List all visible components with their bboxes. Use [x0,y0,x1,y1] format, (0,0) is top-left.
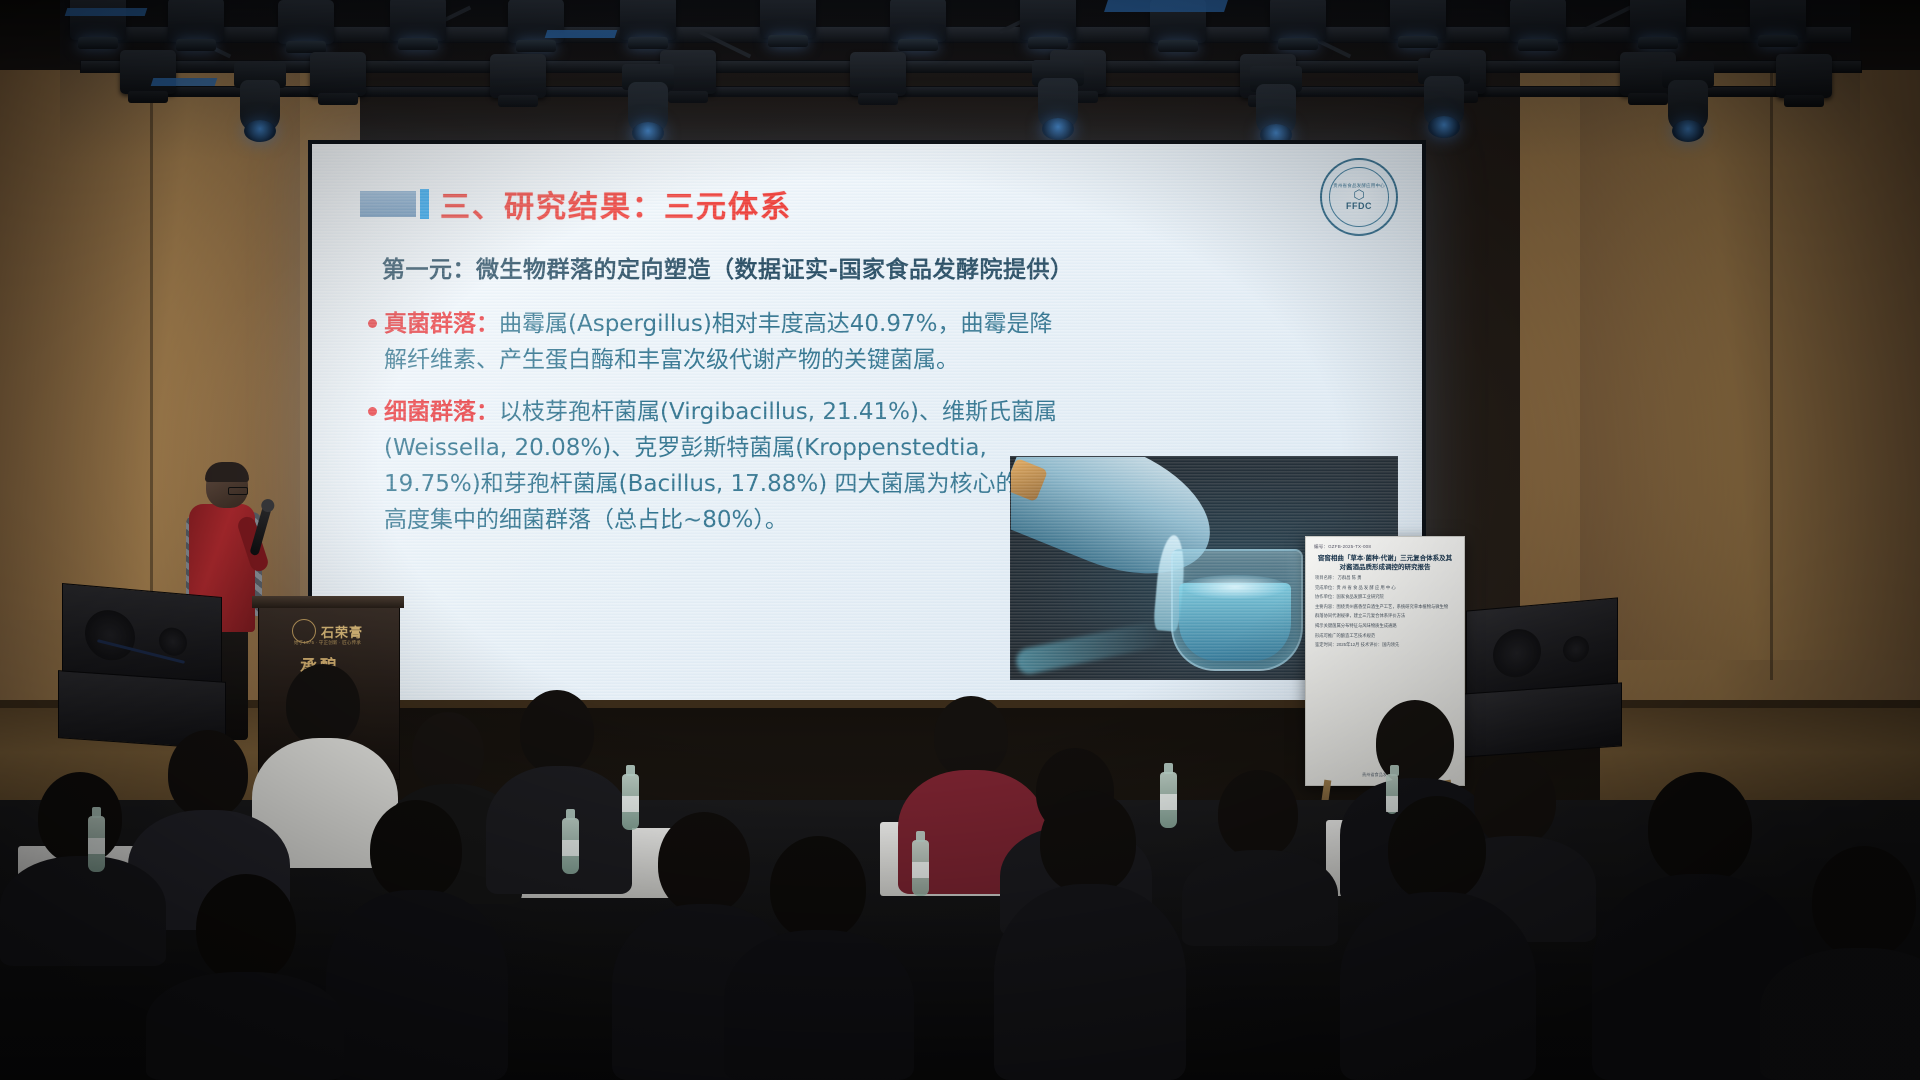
ffdc-logo: 贵州省食品发酵应用中心 ⬡ FFDC [1320,158,1398,236]
audience-head [770,836,866,940]
stage-light [890,0,946,42]
bullet-dot-icon [368,407,377,416]
water-bottle [1386,774,1398,814]
conference-hall-scene: 三、研究结果：三元体系 第一元：微生物群落的定向塑造（数据证实-国家食品发酵院提… [0,0,1920,1080]
audience-person [1760,948,1920,1080]
poster-row: 项目名称： 万群昌 陈 勇 [1315,575,1455,582]
stage-light [760,0,816,38]
liquid-splash [1183,575,1287,599]
moving-head-light [620,64,676,150]
presentation-slide: 三、研究结果：三元体系 第一元：微生物群落的定向塑造（数据证实-国家食品发酵院提… [312,144,1422,704]
moving-head-light [1416,58,1472,144]
audience-head [658,812,750,914]
audience-person [994,884,1186,1080]
moving-head-light [1660,62,1716,148]
lighting-truss [60,0,1860,160]
podium-brand-name: 石荣膏 [321,622,363,641]
stage-light [278,0,334,44]
poster-header: 编号：GZFB-2025-TX-008 [1314,544,1456,550]
stage-light [1510,0,1566,42]
stage-light [620,0,676,40]
poster-row: 协作单位：国家食品发酵工业研究院 [1315,594,1455,601]
audience-head [168,730,248,818]
audience-head [1648,772,1752,884]
stage-light [1750,0,1806,38]
stage-monitor-right-lower [1462,682,1622,757]
stage-light [1020,0,1076,40]
audience-person [0,856,166,966]
audience-head [1812,846,1916,958]
water-bottle [622,774,639,830]
water-bottle [1160,772,1177,828]
hexagon-icon: ⬡ [1353,189,1364,201]
moving-head-light [1030,60,1086,146]
slide-title: 三、研究结果：三元体系 [440,182,792,226]
poster-row: 主要内容：围绕贵州酱香型白酒生产工艺，系统研究草本植物与微生物 [1315,604,1455,611]
audience-head [1040,790,1136,894]
projection-screen: 三、研究结果：三元体系 第一元：微生物群落的定向塑造（数据证实-国家食品发酵院提… [308,140,1426,708]
water-bottle [912,840,929,896]
audience-head [1388,796,1486,902]
stage-light [120,50,176,94]
poster-row: 鉴定时间：2025年12月 技术评价：国内领先 [1315,642,1455,649]
water-bottle [88,816,105,872]
audience-head [520,690,594,774]
poster-row: 形成可推广的酿造工艺技术规范 [1315,633,1455,640]
audience-head [38,772,122,864]
truss-bar-lower [150,86,1792,97]
audience-person [724,930,914,1080]
audience-head [412,712,484,792]
audience-person [146,972,344,1080]
stage-light [1776,54,1832,98]
audience-head [196,874,296,982]
audience-head [1218,770,1298,858]
stage-light [850,52,906,96]
presenter-hair [205,462,249,482]
bullet-item-fungal: 真菌群落：曲霉属(Aspergillus)相对丰度高达40.97%，曲霉是降解纤… [368,306,1388,378]
stage-light [390,0,446,41]
audience-person [1340,892,1536,1080]
bullet-dot-icon [368,319,377,328]
poster-title: 窖窖相曲「草本·菌种·代谢」三元复合体系及其对酱酒品质形成调控的研究报告 [1315,554,1455,572]
stage-light [70,0,126,40]
stage-light [1390,0,1446,39]
stage-light [1270,0,1326,41]
title-accent-bar-blue [420,189,429,219]
audience-person [486,766,632,894]
moving-head-light [232,62,288,148]
poster-row: 揭示关键菌属分布特征与风味物质生成通路 [1315,623,1455,630]
bullet-lead-bacterial: 细菌群落： [384,399,499,425]
stage-light [1630,0,1686,40]
stage-light [490,54,546,98]
stage-light [168,0,224,42]
stage-light [310,52,366,96]
podium-top [252,596,404,608]
poster-row: 群落协同代谢规律，建立三元复合体系评价方法 [1315,613,1455,620]
podium-brand-sub: 始于1975 · 守正创新 · 匠心传承 [294,640,361,646]
slide-subtitle: 第一元：微生物群落的定向塑造（数据证实-国家食品发酵院提供） [382,250,1388,284]
title-accent-bar-light [360,191,416,217]
glasses-icon [228,487,248,495]
slide-title-row: 三、研究结果：三元体系 [360,182,1388,226]
blue-marker-tape [151,78,218,86]
audience-head [370,800,462,900]
blue-marker-tape [65,8,148,16]
audience-head [1474,756,1556,846]
ffdc-logo-acronym: FFDC [1346,201,1372,211]
bullet-lead-fungal: 真菌群落： [384,311,499,337]
poster-row: 完成单位：贵 州 省 食 品 发 酵 应 用 中 心 [1315,585,1455,592]
water-bottle [562,818,579,874]
audience-person [1182,850,1338,946]
audience-person [326,890,508,1080]
blue-marker-tape [1104,0,1228,12]
audience-head [286,664,360,746]
audience-head [934,696,1008,778]
blue-marker-tape [545,30,618,38]
